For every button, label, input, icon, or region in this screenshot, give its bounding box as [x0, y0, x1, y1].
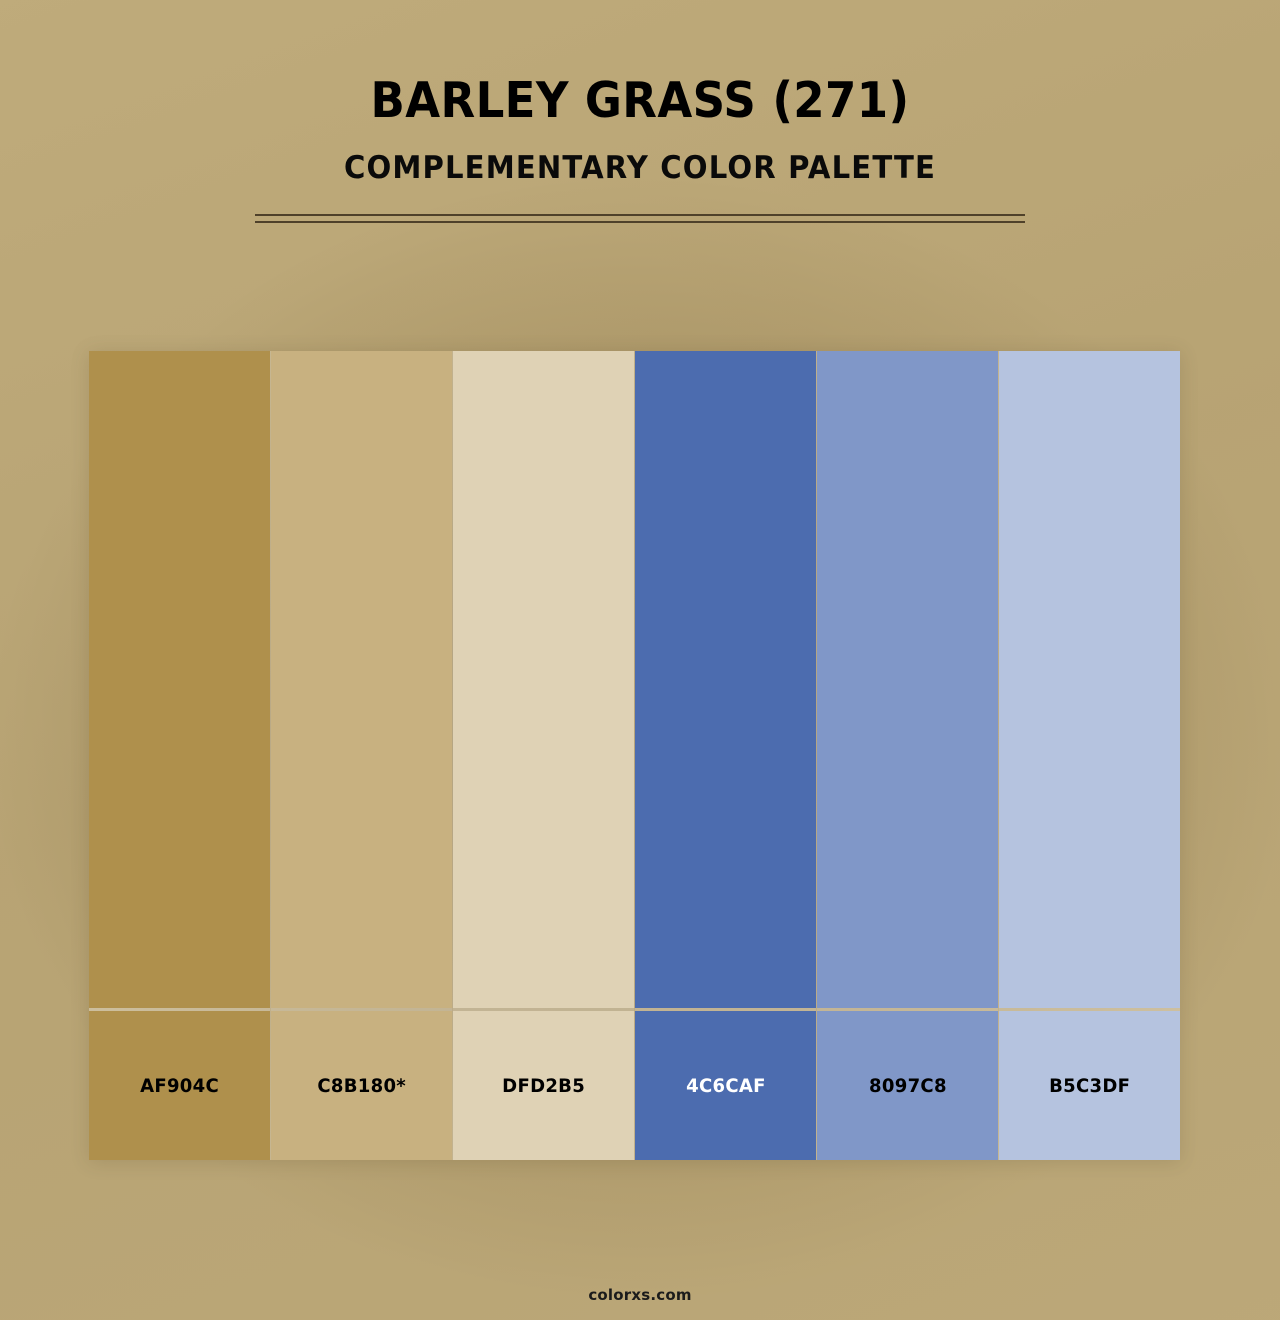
swatch-column[interactable]: 4C6CAF	[635, 351, 817, 1160]
header: BARLEY GRASS (271) COMPLEMENTARY COLOR P…	[0, 0, 1280, 223]
swatch-column[interactable]: B5C3DF	[999, 351, 1180, 1160]
color-palette: AF904CC8B180*DFD2B54C6CAF8097C8B5C3DF	[89, 351, 1180, 1160]
swatch-hex-label: 8097C8	[869, 1075, 947, 1097]
footer: colorxs.com	[0, 1285, 1280, 1304]
footer-site-label: colorxs.com	[588, 1286, 691, 1304]
swatch-color-block[interactable]	[999, 351, 1180, 1008]
header-divider-rule	[255, 214, 1025, 223]
swatch-column[interactable]: 8097C8	[817, 351, 999, 1160]
swatch-column[interactable]: AF904C	[89, 351, 271, 1160]
page-subtitle: COMPLEMENTARY COLOR PALETTE	[38, 129, 1241, 186]
swatch-label-area[interactable]: 8097C8	[817, 1011, 998, 1160]
swatch-hex-label: AF904C	[140, 1075, 219, 1097]
swatch-hex-label: 4C6CAF	[686, 1075, 766, 1097]
swatch-label-area[interactable]: 4C6CAF	[635, 1011, 816, 1160]
swatch-label-area[interactable]: C8B180*	[271, 1011, 452, 1160]
swatch-color-block[interactable]	[635, 351, 816, 1008]
swatch-label-area[interactable]: B5C3DF	[999, 1011, 1180, 1160]
swatch-column[interactable]: C8B180*	[271, 351, 453, 1160]
swatch-color-block[interactable]	[453, 351, 634, 1008]
swatch-color-block[interactable]	[271, 351, 452, 1008]
page-title: BARLEY GRASS (271)	[51, 0, 1229, 129]
swatch-label-area[interactable]: AF904C	[89, 1011, 270, 1160]
swatch-hex-label: DFD2B5	[502, 1075, 585, 1097]
swatch-color-block[interactable]	[817, 351, 998, 1008]
swatch-label-area[interactable]: DFD2B5	[453, 1011, 634, 1160]
swatch-color-block[interactable]	[89, 351, 270, 1008]
swatch-column[interactable]: DFD2B5	[453, 351, 635, 1160]
swatch-hex-label: B5C3DF	[1049, 1075, 1130, 1097]
swatch-hex-label: C8B180*	[317, 1075, 406, 1097]
